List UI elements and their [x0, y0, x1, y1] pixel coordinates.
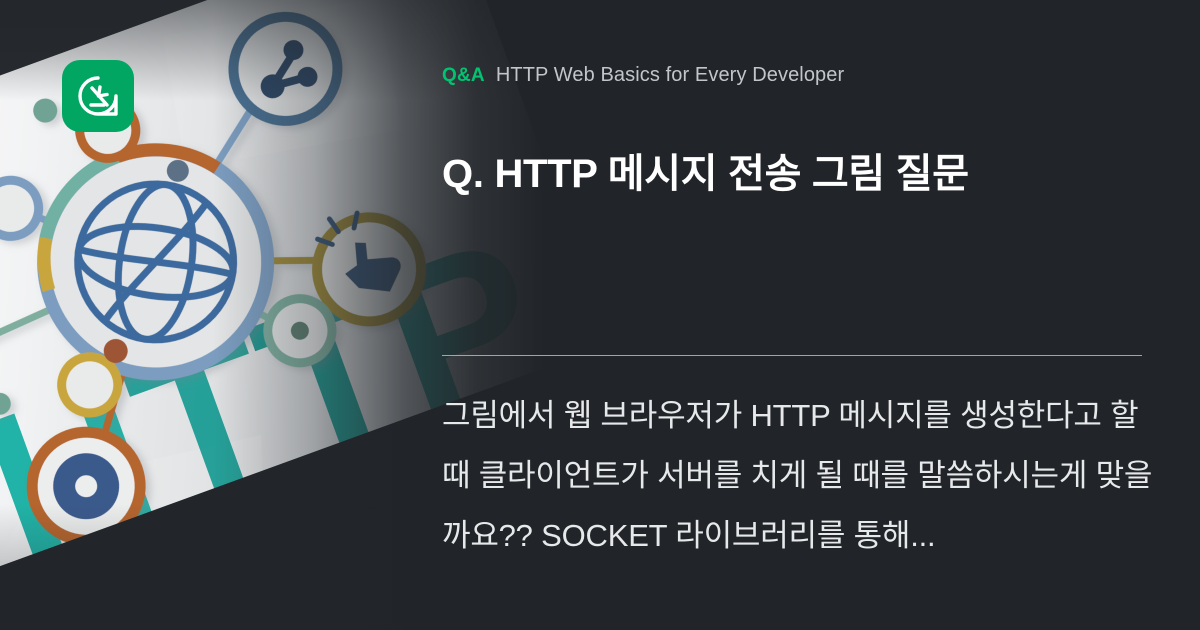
qa-badge: Q&A — [442, 65, 485, 87]
divider — [442, 355, 1142, 356]
page-title: Q. HTTP 메시지 전송 그림 질문 — [442, 149, 1142, 199]
course-title[interactable]: HTTP Web Basics for Every Developer — [496, 64, 844, 87]
content-column: Q&A HTTP Web Basics for Every Developer … — [442, 0, 1142, 630]
breadcrumb: Q&A HTTP Web Basics for Every Developer — [442, 64, 844, 87]
og-card: HTTP — [0, 0, 1200, 630]
post-excerpt: 그림에서 웹 브라우저가 HTTP 메시지를 생성한다고 할때 클라이언트가 서… — [442, 386, 1154, 566]
inflearn-leaf-icon — [76, 74, 120, 118]
inflearn-logo[interactable] — [62, 60, 134, 132]
